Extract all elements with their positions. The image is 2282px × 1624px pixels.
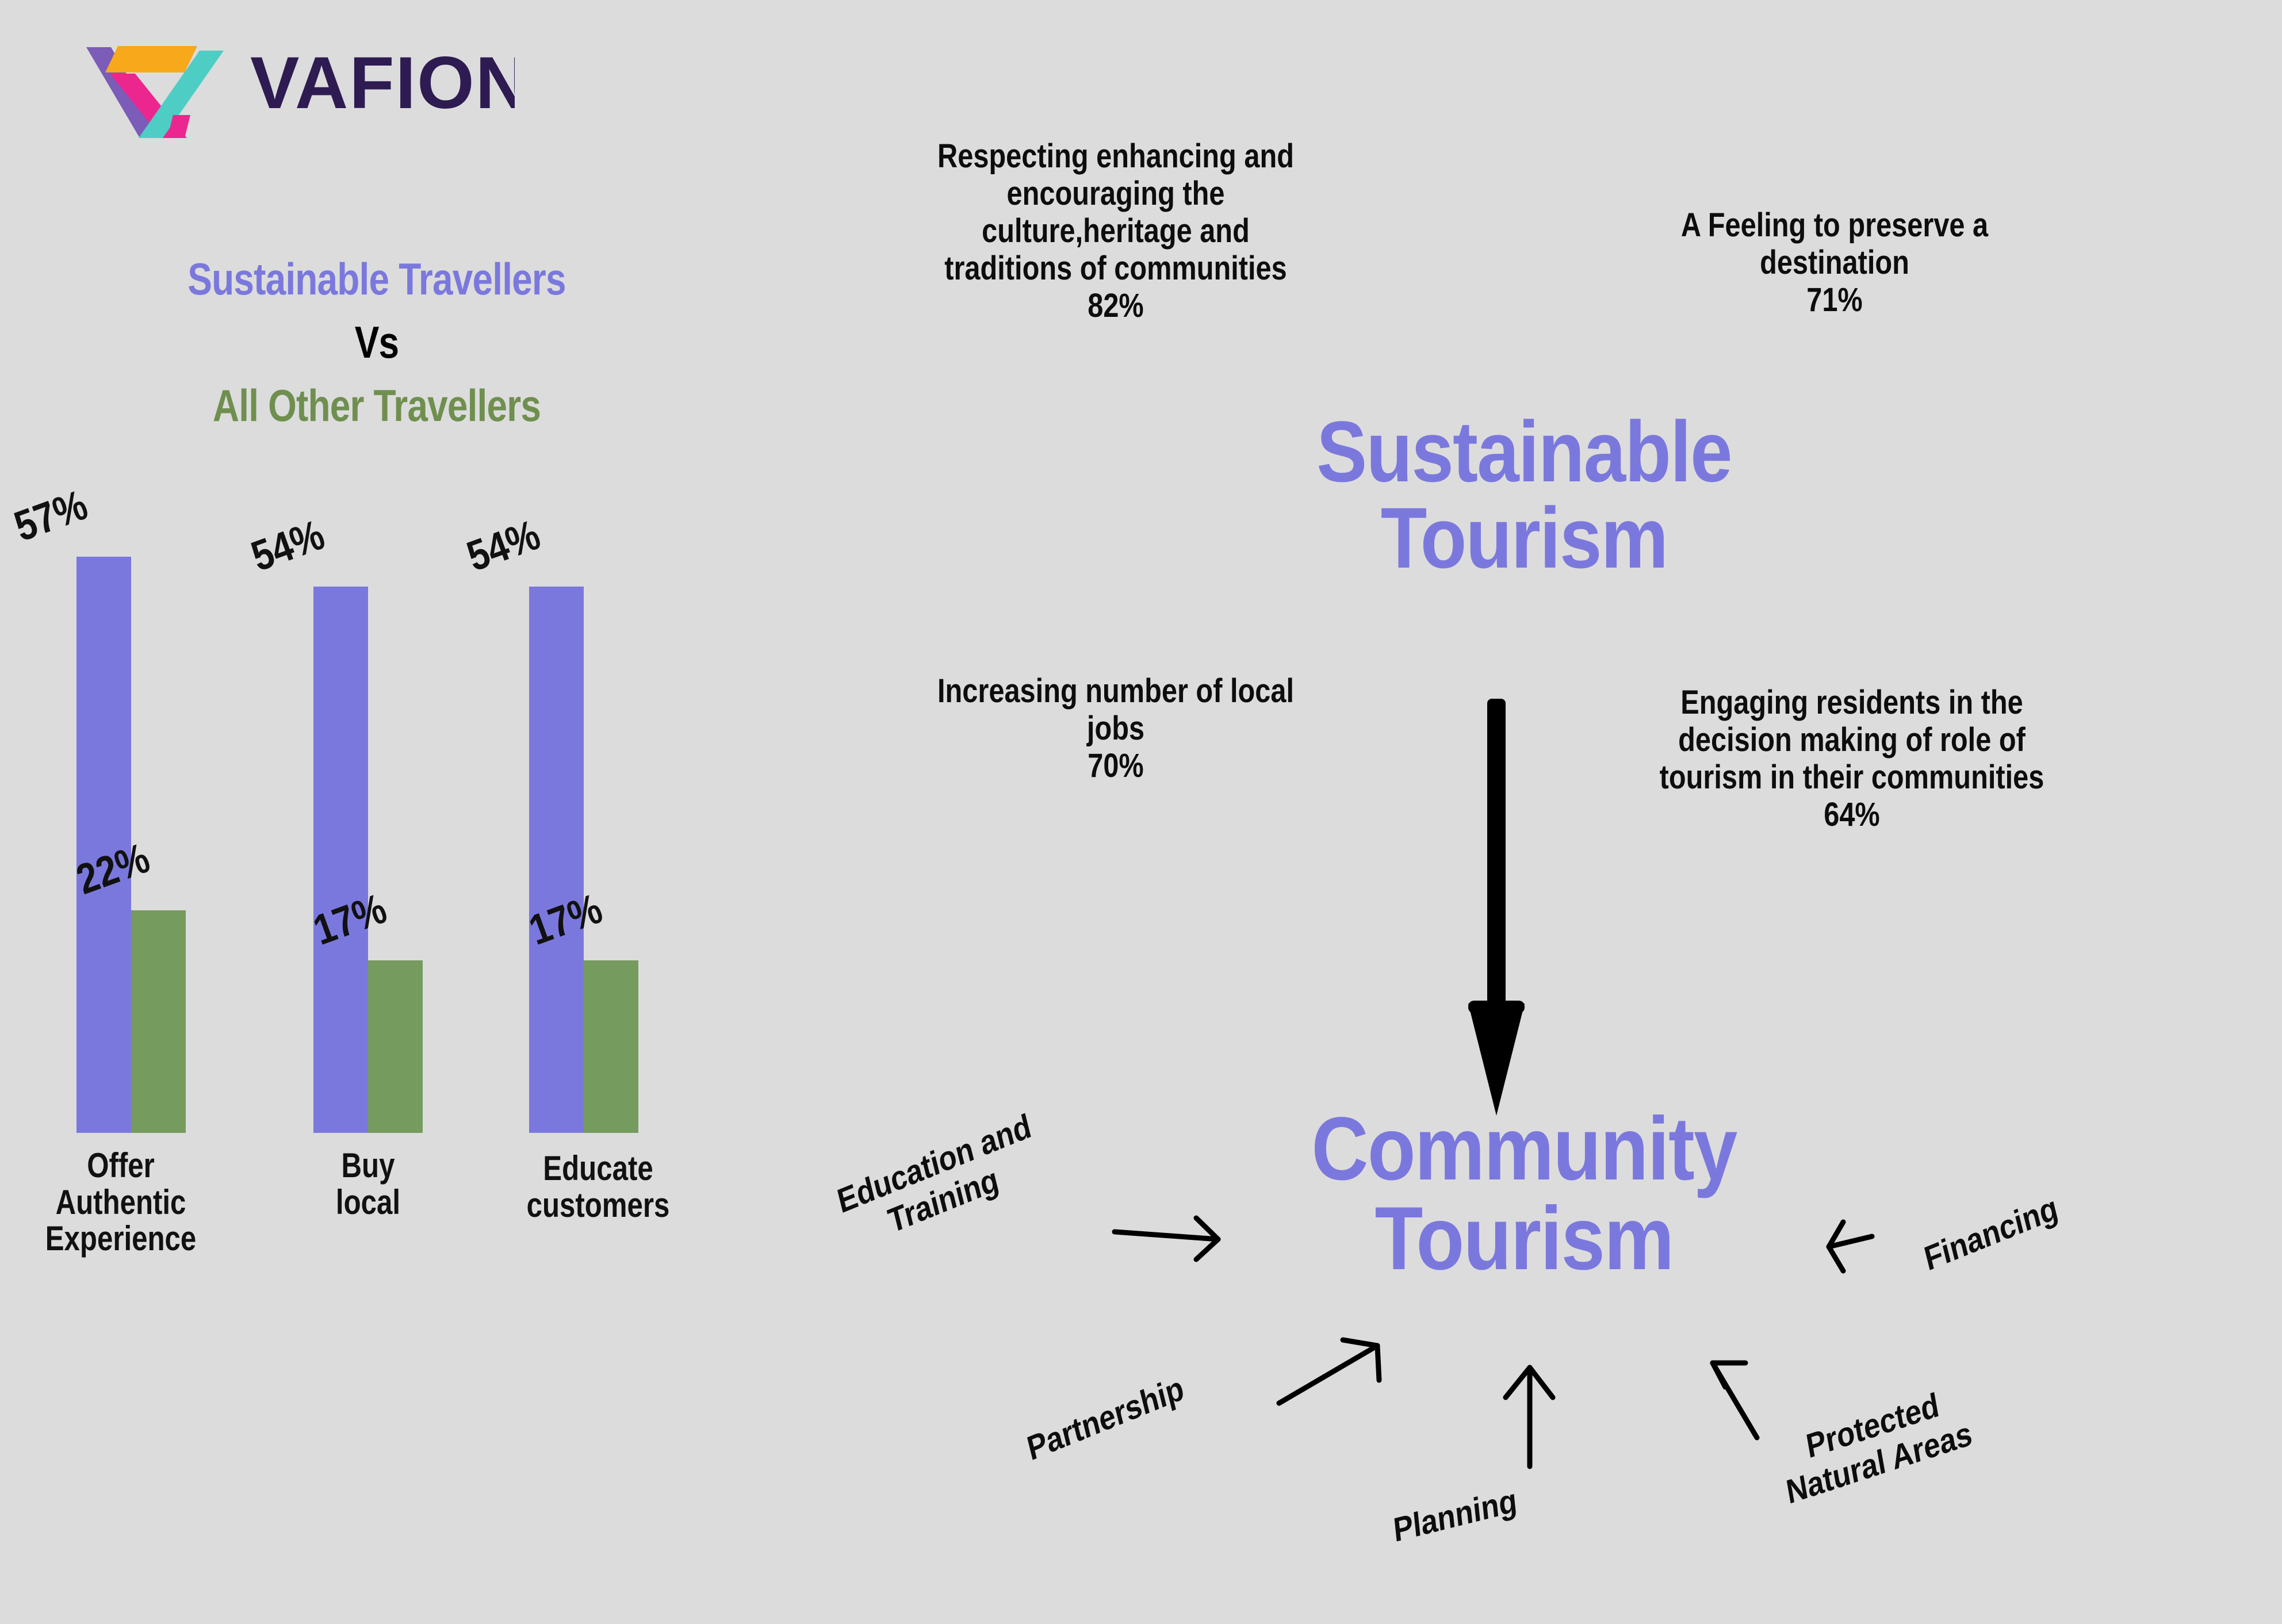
category-label-0-line-1: Authentic <box>0 1184 248 1221</box>
fact-local-jobs: Increasing number of local jobs 70% <box>864 673 1367 785</box>
category-label-2-line-0: Educate <box>466 1150 730 1187</box>
heading-sustainable-tourism-line-1: Tourism <box>1235 495 1812 581</box>
fact-engaging-residents-line-2: tourism in their communities <box>1596 759 2108 796</box>
category-label-1-line-0: Buy <box>255 1147 481 1184</box>
bar-group-buy-local: 54% 17% <box>313 506 424 1133</box>
spoke-label-financing: Financing <box>1921 1189 2061 1279</box>
fact-culture-line-1: encouraging the <box>864 175 1367 213</box>
category-label-2: Educate customers <box>466 1150 730 1223</box>
bar-all-other-2[interactable] <box>584 960 638 1133</box>
category-label-1-line-1: local <box>255 1184 481 1221</box>
category-label-0: Offer Authentic Experience <box>0 1147 248 1257</box>
fact-engaging-residents: Engaging residents in the decision makin… <box>1596 684 2108 834</box>
spoke-planning-line-0: Planning <box>1392 1482 1519 1550</box>
bar-value-sustainable-0: 57% <box>8 480 94 551</box>
chart-title-vs: Vs <box>68 316 686 369</box>
spoke-partnership-line-0: Partnership <box>1024 1369 1188 1468</box>
fact-engaging-residents-line-0: Engaging residents in the <box>1596 684 2108 722</box>
category-label-0-line-2: Experience <box>0 1220 248 1257</box>
fact-preserve-line-0: A Feeling to preserve a <box>1593 207 2076 244</box>
heading-community-tourism-line-1: Tourism <box>1235 1194 1812 1284</box>
spoke-label-protected-natural-areas: Protected Natural Areas <box>1777 1378 1975 1512</box>
heading-sustainable-tourism-line-0: Sustainable <box>1235 408 1812 495</box>
svg-text:VAFION: VAFION <box>250 42 515 124</box>
bar-chart-panel: Sustainable Travellers Vs All Other Trav… <box>0 253 776 1403</box>
fact-culture: Respecting enhancing and encouraging the… <box>864 138 1367 325</box>
bar-all-other-0[interactable] <box>131 910 186 1133</box>
fact-culture-line-0: Respecting enhancing and <box>864 138 1367 175</box>
heading-community-tourism-line-0: Community <box>1235 1104 1812 1194</box>
bar-group-offer-authentic-experience: 57% 22% <box>76 506 187 1133</box>
heading-community-tourism: Community Tourism <box>1235 1104 1812 1284</box>
category-label-0-line-0: Offer <box>0 1147 248 1184</box>
spoke-label-partnership: Partnership <box>1024 1369 1188 1468</box>
heading-sustainable-tourism: Sustainable Tourism <box>1235 408 1812 581</box>
plot-area: 57% 22% 54% 17% 54% 17% <box>0 506 753 1133</box>
fact-preserve-value: 71% <box>1593 282 2076 319</box>
spoke-financing-line-0: Financing <box>1921 1189 2061 1279</box>
bar-group-educate-customers: 54% 17% <box>529 506 640 1133</box>
spoke-label-education-and-training: Education and Training <box>834 1107 1044 1258</box>
arrow-sustainable-to-community <box>1468 699 1525 1116</box>
fact-local-jobs-value: 70% <box>864 748 1367 785</box>
bar-sustainable-2[interactable] <box>529 587 584 1133</box>
arrow-financing <box>1829 1222 1872 1271</box>
arrow-planning <box>1506 1368 1553 1466</box>
fact-engaging-residents-line-1: decision making of role of <box>1596 722 2108 759</box>
bar-sustainable-1[interactable] <box>313 587 368 1133</box>
arrow-protected-natural-areas <box>1713 1363 1757 1438</box>
vafion-logo-mark: VAFION <box>55 23 515 138</box>
chart-title-sustainable: Sustainable Travellers <box>68 253 686 305</box>
fact-engaging-residents-value: 64% <box>1596 796 2108 834</box>
bar-value-sustainable-1: 54% <box>245 510 331 581</box>
bar-value-sustainable-2: 54% <box>461 510 546 581</box>
arrow-education-and-training <box>1115 1218 1218 1259</box>
category-label-2-line-1: customers <box>466 1187 730 1224</box>
fact-preserve: A Feeling to preserve a destination 71% <box>1593 207 2076 319</box>
bar-all-other-1[interactable] <box>368 960 423 1133</box>
fact-culture-line-2: culture,heritage and <box>864 213 1367 250</box>
chart-title-all-other: All Other Travellers <box>68 380 686 432</box>
fact-culture-line-3: traditions of communities <box>864 250 1367 288</box>
fact-local-jobs-line-0: Increasing number of local <box>864 673 1367 710</box>
category-label-1: Buy local <box>255 1147 481 1220</box>
fact-preserve-line-1: destination <box>1593 244 2076 282</box>
fact-local-jobs-line-1: jobs <box>864 710 1367 748</box>
spoke-label-planning: Planning <box>1392 1482 1519 1550</box>
vafion-logo: VAFION <box>55 23 515 138</box>
fact-culture-value: 82% <box>864 288 1367 325</box>
arrow-partnership <box>1279 1340 1379 1403</box>
